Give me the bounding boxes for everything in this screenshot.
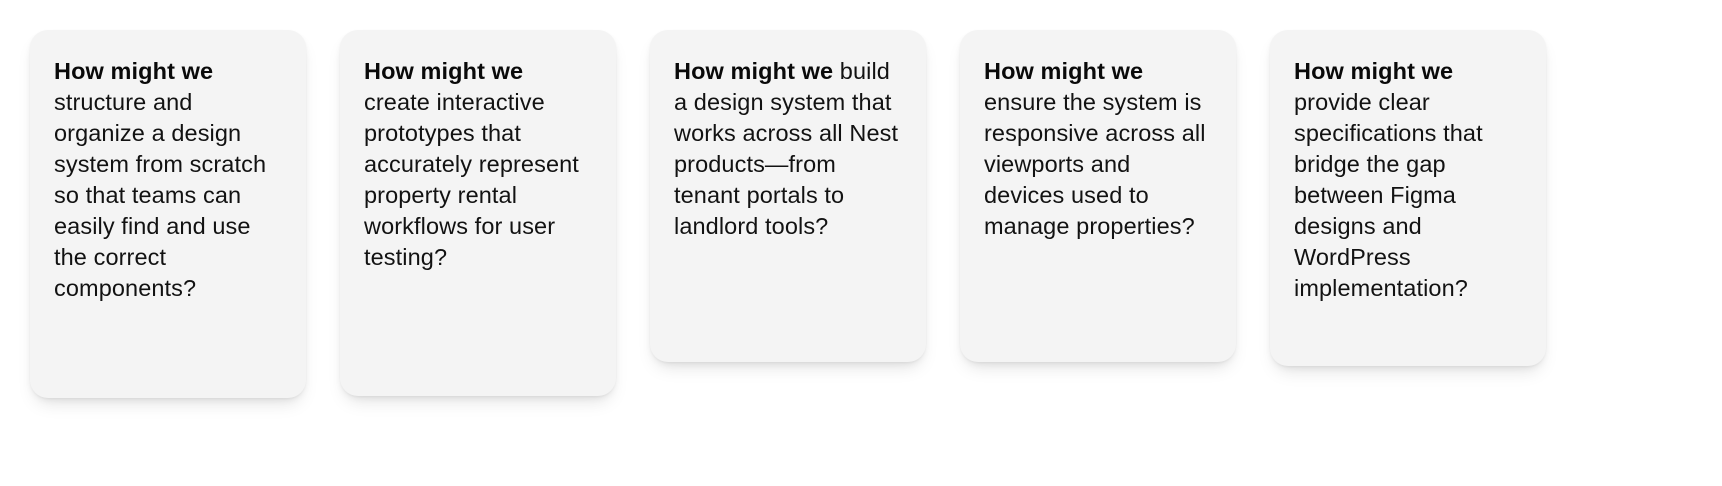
- hmw-card-body: structure and organize a design system f…: [54, 89, 266, 301]
- hmw-card-text: How might we provide clear specification…: [1294, 56, 1522, 304]
- hmw-card[interactable]: How might we create interactive prototyp…: [340, 30, 616, 396]
- hmw-card-prompt: How might we: [54, 58, 213, 84]
- hmw-card-body: ensure the system is responsive across a…: [984, 89, 1206, 239]
- hmw-card[interactable]: How might we build a design system that …: [650, 30, 926, 362]
- hmw-card-text: How might we structure and organize a de…: [54, 56, 282, 304]
- hmw-card-prompt: How might we: [1294, 58, 1453, 84]
- hmw-card-board: How might we structure and organize a de…: [0, 0, 1722, 486]
- hmw-card[interactable]: How might we ensure the system is respon…: [960, 30, 1236, 362]
- hmw-card-text: How might we build a design system that …: [674, 56, 902, 242]
- hmw-card-body: provide clear specifications that bridge…: [1294, 89, 1483, 301]
- hmw-card-body: build a design system that works across …: [674, 58, 898, 239]
- hmw-card-prompt: How might we: [364, 58, 523, 84]
- hmw-card[interactable]: How might we provide clear specification…: [1270, 30, 1546, 366]
- hmw-card-body: create interactive prototypes that accur…: [364, 89, 579, 270]
- hmw-card-prompt: How might we: [984, 58, 1143, 84]
- hmw-card-prompt: How might we: [674, 58, 833, 84]
- hmw-card[interactable]: How might we structure and organize a de…: [30, 30, 306, 398]
- hmw-card-text: How might we ensure the system is respon…: [984, 56, 1212, 242]
- hmw-card-text: How might we create interactive prototyp…: [364, 56, 592, 273]
